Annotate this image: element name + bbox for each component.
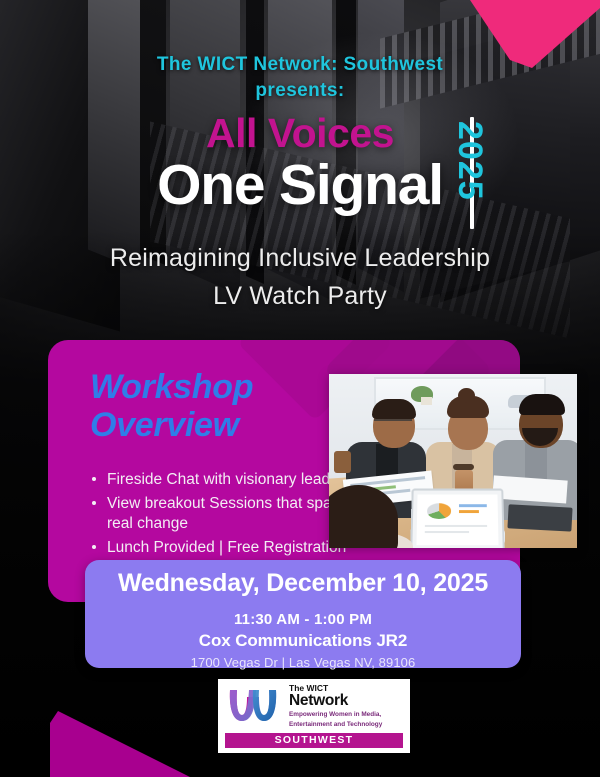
- presenter-line-1: The WICT Network: Southwest: [0, 52, 600, 78]
- list-item: View breakout Sessions that spark real c…: [90, 494, 368, 535]
- subtitle-line-2: LV Watch Party: [0, 278, 600, 316]
- presenter-line-2: presents:: [0, 78, 600, 104]
- photo-laptop: [410, 489, 505, 548]
- workshop-heading: Workshop Overview: [90, 368, 340, 444]
- event-date: Wednesday, December 10, 2025: [85, 560, 521, 598]
- event-details-band: Wednesday, December 10, 2025 11:30 AM - …: [85, 560, 521, 668]
- logo-network: Network: [289, 693, 382, 709]
- list-item: Fireside Chat with visionary leaders: [90, 470, 368, 490]
- header-block: The WICT Network: Southwest presents: Al…: [0, 52, 600, 315]
- workshop-heading-line-1: Workshop: [90, 368, 340, 406]
- title-all-voices: All Voices: [0, 113, 600, 154]
- title-one-signal: One Signal: [0, 156, 600, 216]
- logo-chapter-bar: SOUTHWEST: [225, 733, 403, 748]
- logo-tagline-line-1: Empowering Women in Media,: [289, 711, 382, 719]
- workshop-heading-line-2: Overview: [90, 406, 340, 444]
- meeting-photo: [329, 374, 577, 548]
- event-flyer: The WICT Network: Southwest presents: Al…: [0, 0, 600, 777]
- event-address: 1700 Vegas Dr | Las Vegas NV, 89106: [85, 655, 521, 670]
- year-label: 2025: [450, 121, 489, 201]
- logo-tagline-line-2: Entertainment and Technology: [289, 721, 382, 729]
- wict-network-logo: The WICT Network Empowering Women in Med…: [218, 679, 410, 753]
- subtitle-block: Reimagining Inclusive Leadership LV Watc…: [0, 240, 600, 315]
- event-venue: Cox Communications JR2: [85, 631, 521, 651]
- subtitle-line-1: Reimagining Inclusive Leadership: [0, 240, 600, 278]
- title-block: All Voices One Signal 2025: [0, 113, 600, 216]
- workshop-bullet-list: Fireside Chat with visionary leaders Vie…: [90, 470, 368, 558]
- wict-w-mark-icon: [225, 685, 283, 727]
- list-item: Lunch Provided | Free Registration: [90, 538, 368, 558]
- event-time: 11:30 AM - 1:00 PM: [85, 611, 521, 628]
